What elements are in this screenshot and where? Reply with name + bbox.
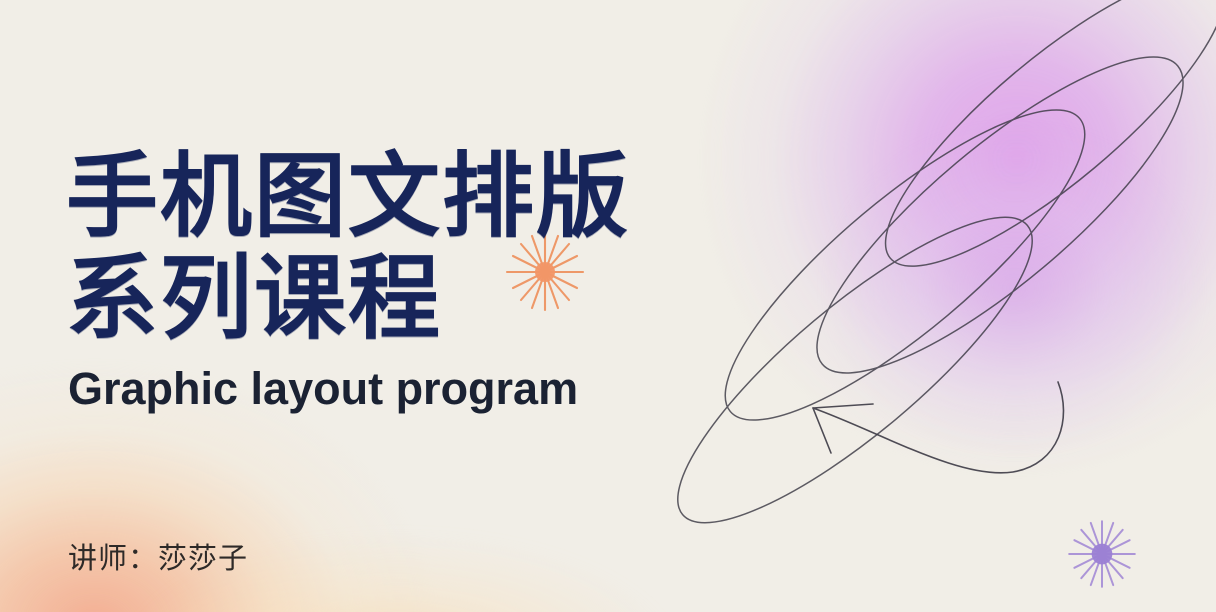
purple-gradient-wash-secondary	[726, 120, 1206, 540]
title-line-2: 系列课程	[66, 250, 630, 348]
subtitle: Graphic layout program	[68, 363, 630, 415]
headline-block: 手机图文排版 系列课程 Graphic layout program	[66, 148, 630, 415]
title-line-1: 手机图文排版	[66, 148, 630, 246]
instructor-label: 讲师：莎莎子	[68, 535, 248, 577]
course-cover-poster: 手机图文排版 系列课程 Graphic layout program 讲师：莎莎…	[0, 0, 1216, 612]
